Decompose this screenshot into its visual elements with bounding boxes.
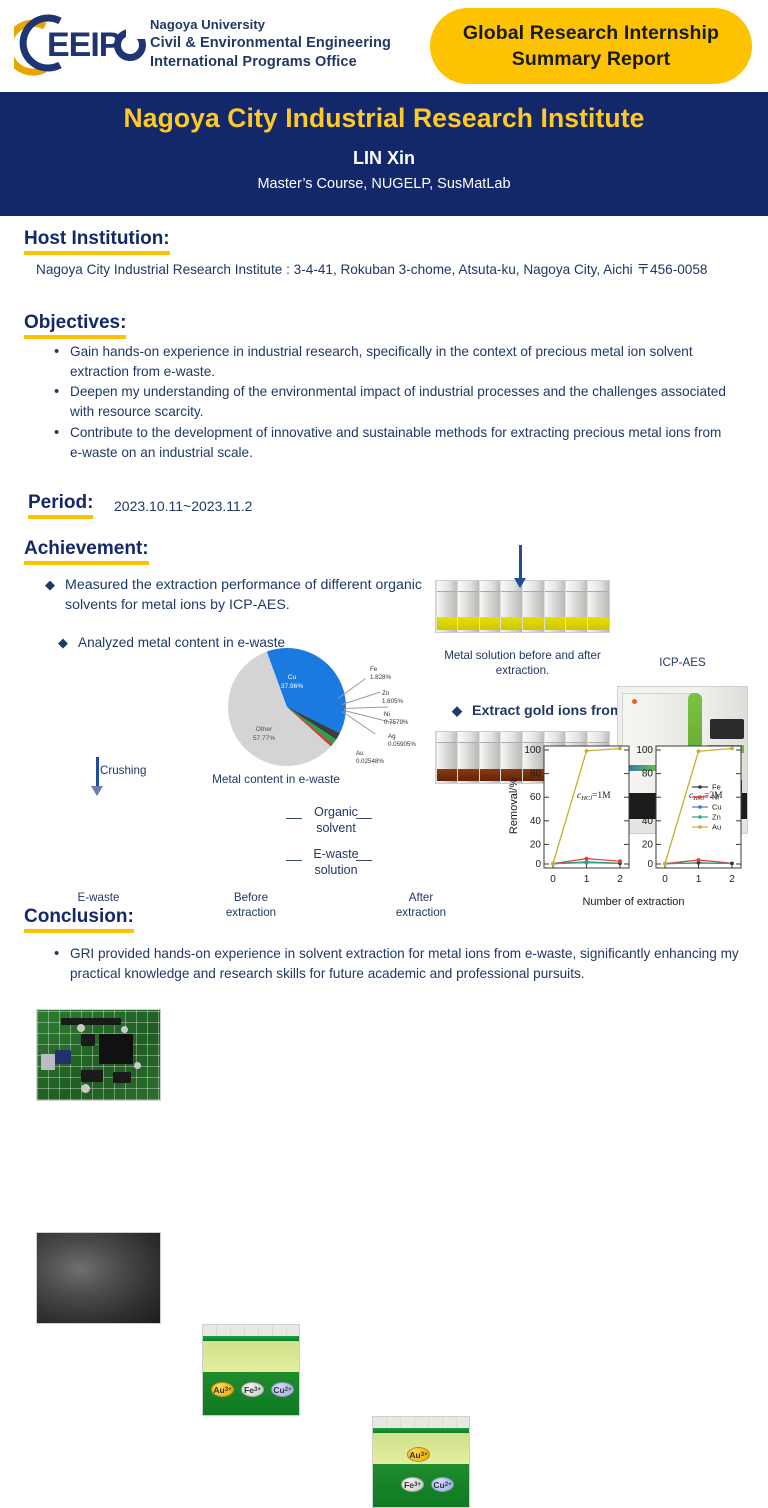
pie-slice-label-other: Other57.77%: [242, 726, 286, 743]
period-value: 2023.10.11~2023.11.2: [114, 497, 252, 517]
pie-slice-label-cu: Cu37.96%: [272, 674, 312, 691]
host-institution-section: Host Institution:: [24, 228, 170, 255]
organization-name: Nagoya University Civil & Environmental …: [150, 17, 391, 72]
leader-line-solution-right: [356, 860, 372, 861]
pcb-photo: [36, 1009, 161, 1101]
ion-au-badge: Au3+: [211, 1382, 234, 1397]
achievement-bullet-1: Measured the extraction performance of d…: [45, 576, 443, 615]
objectives-list: Gain hands-on experience in industrial r…: [50, 342, 734, 463]
svg-text:40: 40: [530, 816, 542, 827]
pie-circle: [228, 648, 346, 766]
conclusion-list: GRI provided hands-on experience in solv…: [50, 944, 750, 984]
beaker-before-caption: Beforeextraction: [202, 890, 300, 920]
svg-text:0: 0: [535, 859, 541, 870]
svg-text:100: 100: [524, 745, 541, 756]
svg-text:20: 20: [530, 839, 542, 850]
svg-text:40: 40: [642, 816, 654, 827]
svg-text:0: 0: [662, 874, 668, 885]
list-item: Contribute to the development of innovat…: [50, 423, 734, 462]
chart-y-axis-label: Removal/%: [508, 756, 520, 856]
ion-au-badge-after: Au3+: [407, 1447, 430, 1462]
ion-cu-badge-after: Cu2+: [431, 1477, 454, 1492]
org-line-1: Nagoya University: [150, 17, 391, 34]
svg-text:EEIP: EEIP: [47, 26, 121, 64]
badge-line-2: Summary Report: [512, 46, 671, 72]
svg-text:60: 60: [642, 792, 654, 803]
beaker-before-photo: Au3+ Fe3+ Cu2+: [202, 1324, 300, 1416]
author-name: LIN Xin: [0, 148, 768, 169]
svg-text:2: 2: [617, 874, 623, 885]
author-affiliation: Master’s Course, NUGELP, SusMatLab: [0, 176, 768, 192]
achievement-heading: Achievement:: [24, 538, 149, 565]
chart-left-plot: 100 80 60 40 20 0 0 1 2 cHCl=1M: [522, 742, 632, 886]
svg-text:80: 80: [642, 769, 654, 780]
process-arrow-head-icon: [514, 578, 526, 588]
leader-line-organic-right: [356, 818, 372, 819]
chart-x-axis-label: Number of extraction: [526, 896, 741, 908]
ewaste-powder-photo: [36, 1232, 161, 1324]
ion-fe-badge-after: Fe3+: [401, 1477, 424, 1492]
list-item: GRI provided hands-on experience in solv…: [50, 944, 750, 983]
ion-cu-badge: Cu2+: [271, 1382, 294, 1397]
badge-line-1: Global Research Internship: [463, 20, 719, 46]
svg-text:2: 2: [729, 874, 735, 885]
pie-chart-caption: Metal content in e-waste: [196, 772, 356, 787]
svg-text:0: 0: [647, 859, 653, 870]
metal-content-pie-chart: Cu37.96% Other57.77% Fe1.828% Zn1.605% N…: [212, 648, 427, 783]
vials-caption: Metal solution before and after extracti…: [435, 648, 610, 678]
svg-text:0: 0: [550, 874, 556, 885]
svg-text:Ni: Ni: [712, 793, 719, 802]
achievement-section: Achievement:: [24, 538, 149, 565]
svg-text:Zn: Zn: [712, 813, 721, 822]
svg-text:80: 80: [530, 769, 542, 780]
title-banner: Nagoya City Industrial Research Institut…: [0, 92, 768, 216]
svg-text:100: 100: [636, 745, 653, 756]
objectives-heading: Objectives:: [24, 312, 126, 339]
ion-fe-badge: Fe3+: [241, 1382, 264, 1397]
ewaste-solution-label: E-wastesolution: [304, 846, 368, 879]
svg-text:60: 60: [530, 792, 542, 803]
pie-label-fe: Fe1.828%: [370, 666, 391, 682]
removal-line-charts: Removal/% Number of extraction 100 80 60: [492, 738, 754, 920]
svg-text:Au: Au: [712, 823, 721, 832]
svg-text:Cu: Cu: [712, 803, 722, 812]
pie-label-ag: Ag0.05905%: [388, 733, 416, 749]
conclusion-heading: Conclusion:: [24, 906, 134, 933]
pie-label-zn: Zn1.605%: [382, 690, 403, 706]
pie-label-ni: Ni0.7579%: [384, 711, 408, 727]
crushing-arrow-line: [96, 757, 99, 789]
icp-aes-caption: ICP-AES: [617, 655, 748, 670]
host-institution-heading: Host Institution:: [24, 228, 170, 255]
objectives-section: Objectives:: [24, 312, 126, 339]
org-line-3: International Programs Office: [150, 53, 391, 72]
organic-solvent-label: Organicsolvent: [304, 804, 368, 837]
svg-text:20: 20: [642, 839, 654, 850]
conclusion-section: Conclusion:: [24, 906, 134, 933]
period-heading: Period:: [28, 492, 93, 519]
process-arrow-line: [519, 545, 522, 581]
leader-line-solution-left: [286, 860, 302, 861]
beaker-after-caption: Afterextraction: [372, 890, 470, 920]
pie-label-au: Au0.02548%: [356, 750, 384, 766]
period-section: Period:: [28, 492, 93, 519]
svg-text:1: 1: [584, 874, 590, 885]
pie-leader-zn: [342, 692, 380, 705]
org-line-2: Civil & Environmental Engineering: [150, 34, 391, 53]
host-institution-text: Nagoya City Industrial Research Institut…: [36, 260, 742, 279]
svg-text:Fe: Fe: [712, 783, 721, 792]
crushing-label: Crushing: [100, 763, 146, 778]
page-title: Nagoya City Industrial Research Institut…: [0, 103, 768, 134]
ewaste-powder-caption: E-waste: [36, 890, 161, 905]
crushing-arrow-head-icon: [91, 786, 103, 796]
eeipo-logo: EEIP: [14, 14, 146, 76]
pie-leader-ni: [344, 706, 388, 709]
list-item: Deepen my understanding of the environme…: [50, 382, 734, 421]
svg-text:1: 1: [696, 874, 702, 885]
list-item: Gain hands-on experience in industrial r…: [50, 342, 734, 381]
beaker-after-photo: Au3+ Fe3+ Cu2+: [372, 1416, 470, 1508]
page-header: EEIP Nagoya University Civil & Environme…: [0, 0, 768, 90]
chart-right-plot: 100 80 60 40 20 0 0 1 2 cHCl=2M Fe Ni Cu…: [634, 742, 746, 886]
eeipo-logo-icon: EEIP: [14, 14, 146, 76]
leader-line-organic-left: [286, 818, 302, 819]
report-type-badge: Global Research Internship Summary Repor…: [430, 8, 752, 84]
